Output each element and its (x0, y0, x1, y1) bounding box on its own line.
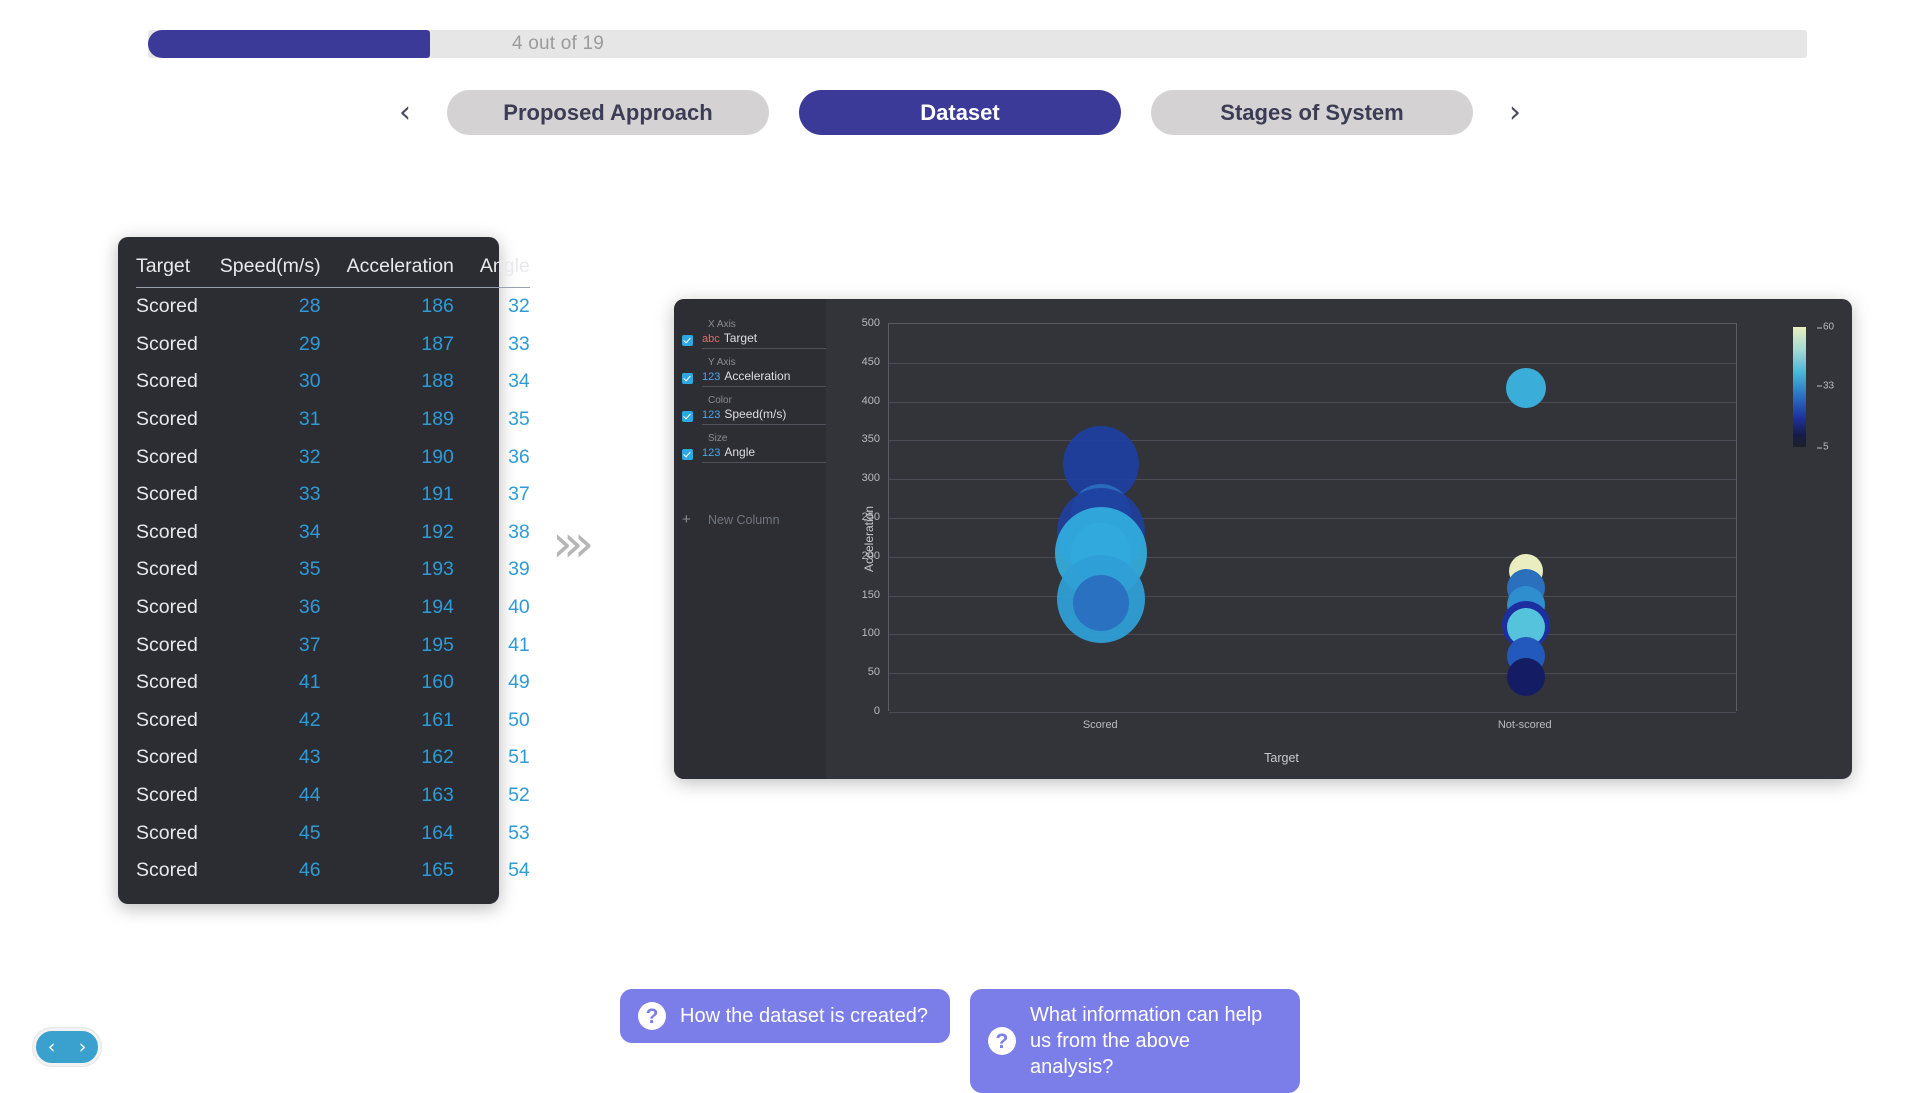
table-cell: 46 (198, 852, 321, 890)
tab-dataset[interactable]: Dataset (799, 90, 1121, 135)
table-cell: 29 (198, 326, 321, 364)
table-cell: 164 (321, 814, 454, 852)
y-axis-ticks: 050100150200250300350400450500 (826, 299, 888, 779)
table-cell: 44 (198, 777, 321, 815)
dataset-table: Target Speed(m/s) Acceleration Angle Sco… (136, 249, 530, 890)
table-cell: 45 (198, 814, 321, 852)
suggestion-chip-label: What information can help us from the ab… (1030, 1002, 1278, 1080)
table-header-row: Target Speed(m/s) Acceleration Angle (136, 249, 530, 288)
x-axis-title: Target (826, 751, 1737, 765)
table-cell: 35 (454, 401, 530, 439)
x-axis-tick-label: Scored (1083, 719, 1118, 731)
encoding-size-field-label: Angle (724, 445, 755, 459)
progress-bar-fill (148, 30, 430, 58)
suggestion-chip-label: How the dataset is created? (680, 1003, 928, 1029)
table-row[interactable]: Scored3018834 (136, 363, 530, 401)
encoding-x-axis-field: abcTarget (702, 331, 826, 349)
encoding-y-axis-field: 123Acceleration (702, 369, 826, 387)
table-cell: Scored (136, 476, 198, 514)
table-cell: 43 (198, 739, 321, 777)
color-legend-tick-label: 60 (1823, 322, 1834, 333)
table-cell: 165 (321, 852, 454, 890)
tabs-next-icon[interactable]: › (1503, 98, 1527, 128)
tab-stages-of-system[interactable]: Stages of System (1151, 90, 1473, 135)
plot-canvas (888, 323, 1737, 711)
table-cell: Scored (136, 589, 198, 627)
table-row[interactable]: Scored3219036 (136, 438, 530, 476)
bottom-nav-prev-icon[interactable]: ‹ (48, 1038, 56, 1057)
flow-arrow-icon: ››› (552, 518, 584, 570)
chart-plot-region: Acceleration 050100150200250300350400450… (826, 299, 1852, 779)
table-cell: Scored (136, 514, 198, 552)
plus-icon: + (682, 511, 702, 528)
gridline (889, 557, 1736, 558)
table-cell: Scored (136, 664, 198, 702)
table-cell: 49 (454, 664, 530, 702)
table-row[interactable]: Scored4316251 (136, 739, 530, 777)
table-cell: Scored (136, 852, 198, 890)
encoding-y-axis-field-label: Acceleration (724, 369, 790, 383)
column-header-speed: Speed(m/s) (198, 249, 321, 288)
tab-proposed-approach[interactable]: Proposed Approach (447, 90, 769, 135)
y-axis-tick-label: 200 (862, 550, 880, 562)
add-new-column-button[interactable]: + New Column (682, 511, 780, 528)
table-cell: 31 (198, 401, 321, 439)
table-row[interactable]: Scored3519339 (136, 551, 530, 589)
encoding-color-checkbox[interactable] (682, 411, 693, 422)
table-cell: Scored (136, 626, 198, 664)
bubble-point[interactable] (1506, 368, 1546, 408)
encoding-size[interactable]: Size 123Angle (674, 433, 826, 463)
type-badge-123-icon: 123 (702, 371, 720, 383)
tab-bar: ‹ Proposed Approach Dataset Stages of Sy… (0, 90, 1920, 135)
suggestion-chip-dataset-created[interactable]: ? How the dataset is created? (620, 989, 950, 1043)
encoding-color-role: Color (708, 395, 826, 406)
gridline (889, 402, 1736, 403)
table-cell: 34 (198, 514, 321, 552)
suggestion-chip-analysis-info[interactable]: ? What information can help us from the … (970, 989, 1300, 1093)
chart-encoding-sidebar: X Axis abcTarget Y Axis 123Acceleration … (674, 299, 826, 779)
color-legend-tick-label: 33 (1823, 380, 1834, 391)
table-cell: Scored (136, 777, 198, 815)
table-cell: 36 (198, 589, 321, 627)
encoding-size-checkbox[interactable] (682, 449, 693, 460)
dataset-table-card: Target Speed(m/s) Acceleration Angle Sco… (118, 237, 499, 904)
color-legend-gradient (1793, 327, 1806, 447)
table-row[interactable]: Scored3419238 (136, 514, 530, 552)
y-axis-tick-label: 300 (862, 472, 880, 484)
table-row[interactable]: Scored4516453 (136, 814, 530, 852)
bubble-point[interactable] (1507, 658, 1545, 696)
table-cell: Scored (136, 551, 198, 589)
table-row[interactable]: Scored2818632 (136, 288, 530, 326)
type-badge-123-icon: 123 (702, 447, 720, 459)
table-cell: 41 (454, 626, 530, 664)
table-cell: 162 (321, 739, 454, 777)
table-row[interactable]: Scored3619440 (136, 589, 530, 627)
table-cell: Scored (136, 401, 198, 439)
table-cell: Scored (136, 363, 198, 401)
encoding-color-field: 123Speed(m/s) (702, 407, 826, 425)
gridline (889, 673, 1736, 674)
table-cell: 37 (454, 476, 530, 514)
x-axis-tick-label: Not-scored (1498, 719, 1552, 731)
table-row[interactable]: Scored3319137 (136, 476, 530, 514)
table-cell: 51 (454, 739, 530, 777)
gridline (889, 712, 1736, 713)
table-cell: 32 (454, 288, 530, 326)
table-cell: Scored (136, 814, 198, 852)
y-axis-tick-label: 500 (862, 317, 880, 329)
table-cell: 53 (454, 814, 530, 852)
encoding-x-axis[interactable]: X Axis abcTarget (674, 319, 826, 349)
encoding-color[interactable]: Color 123Speed(m/s) (674, 395, 826, 425)
progress-bar: 4 out of 19 (148, 30, 1807, 58)
y-axis-tick-label: 450 (862, 356, 880, 368)
gridline (889, 634, 1736, 635)
table-cell: 39 (454, 551, 530, 589)
table-cell: 42 (198, 702, 321, 740)
table-cell: 33 (454, 326, 530, 364)
y-axis-tick-label: 50 (868, 666, 880, 678)
encoding-x-axis-checkbox[interactable] (682, 335, 693, 346)
table-row[interactable]: Scored3118935 (136, 401, 530, 439)
table-cell: Scored (136, 702, 198, 740)
encoding-size-field: 123Angle (702, 445, 826, 463)
encoding-y-axis[interactable]: Y Axis 123Acceleration (674, 357, 826, 387)
table-cell: 190 (321, 438, 454, 476)
table-row[interactable]: Scored4116049 (136, 664, 530, 702)
encoding-x-axis-field-label: Target (724, 331, 757, 345)
table-cell: 163 (321, 777, 454, 815)
table-cell: 40 (454, 589, 530, 627)
y-axis-tick-label: 350 (862, 433, 880, 445)
table-cell: 193 (321, 551, 454, 589)
gridline (889, 363, 1736, 364)
gridline (889, 440, 1736, 441)
table-row[interactable]: Scored2918733 (136, 326, 530, 364)
table-cell: Scored (136, 288, 198, 326)
table-cell: 33 (198, 476, 321, 514)
table-cell: 186 (321, 288, 454, 326)
gridline (889, 596, 1736, 597)
y-axis-tick-label: 400 (862, 395, 880, 407)
table-cell: 191 (321, 476, 454, 514)
bubble-point[interactable] (1073, 575, 1129, 631)
table-cell: Scored (136, 739, 198, 777)
gridline (889, 479, 1736, 480)
table-row[interactable]: Scored4416352 (136, 777, 530, 815)
table-cell: Scored (136, 326, 198, 364)
y-axis-tick-label: 100 (862, 627, 880, 639)
column-header-angle: Angle (454, 249, 530, 288)
question-mark-icon: ? (988, 1027, 1016, 1055)
table-cell: 187 (321, 326, 454, 364)
table-cell: 54 (454, 852, 530, 890)
color-legend-tick-label: 5 (1823, 442, 1829, 453)
table-cell: 188 (321, 363, 454, 401)
progress-label: 4 out of 19 (512, 30, 604, 58)
encoding-size-role: Size (708, 433, 826, 444)
question-mark-icon: ? (638, 1002, 666, 1030)
column-header-target: Target (136, 249, 198, 288)
suggestion-chips: ? How the dataset is created? ? What inf… (0, 989, 1920, 1093)
chart-panel: X Axis abcTarget Y Axis 123Acceleration … (674, 299, 1852, 779)
new-column-label: New Column (708, 513, 780, 527)
table-cell: 195 (321, 626, 454, 664)
encoding-color-field-label: Speed(m/s) (724, 407, 786, 421)
encoding-x-axis-role: X Axis (708, 319, 826, 330)
bottom-nav-next-icon[interactable]: › (79, 1038, 87, 1057)
table-cell: 36 (454, 438, 530, 476)
y-axis-tick-label: 0 (874, 705, 880, 717)
tabs-prev-icon[interactable]: ‹ (393, 98, 417, 128)
table-cell: 192 (321, 514, 454, 552)
table-cell: 194 (321, 589, 454, 627)
table-row[interactable]: Scored4616554 (136, 852, 530, 890)
table-cell: 28 (198, 288, 321, 326)
table-cell: 34 (454, 363, 530, 401)
table-row[interactable]: Scored3719541 (136, 626, 530, 664)
encoding-y-axis-role: Y Axis (708, 357, 826, 368)
table-cell: 38 (454, 514, 530, 552)
table-cell: 35 (198, 551, 321, 589)
table-cell: 50 (454, 702, 530, 740)
table-cell: 160 (321, 664, 454, 702)
y-axis-tick-label: 250 (862, 511, 880, 523)
table-cell: 37 (198, 626, 321, 664)
table-body: Scored2818632Scored2918733Scored3018834S… (136, 288, 530, 890)
table-cell: 161 (321, 702, 454, 740)
table-row[interactable]: Scored4216150 (136, 702, 530, 740)
encoding-y-axis-checkbox[interactable] (682, 373, 693, 384)
y-axis-tick-label: 150 (862, 589, 880, 601)
table-cell: 32 (198, 438, 321, 476)
table-cell: 52 (454, 777, 530, 815)
table-cell: 189 (321, 401, 454, 439)
bottom-slide-nav[interactable]: ‹ › (33, 1028, 101, 1066)
type-badge-123-icon: 123 (702, 409, 720, 421)
type-badge-abc-icon: abc (702, 333, 720, 345)
table-cell: Scored (136, 438, 198, 476)
table-cell: 30 (198, 363, 321, 401)
table-cell: 41 (198, 664, 321, 702)
gridline (889, 518, 1736, 519)
column-header-acceleration: Acceleration (321, 249, 454, 288)
